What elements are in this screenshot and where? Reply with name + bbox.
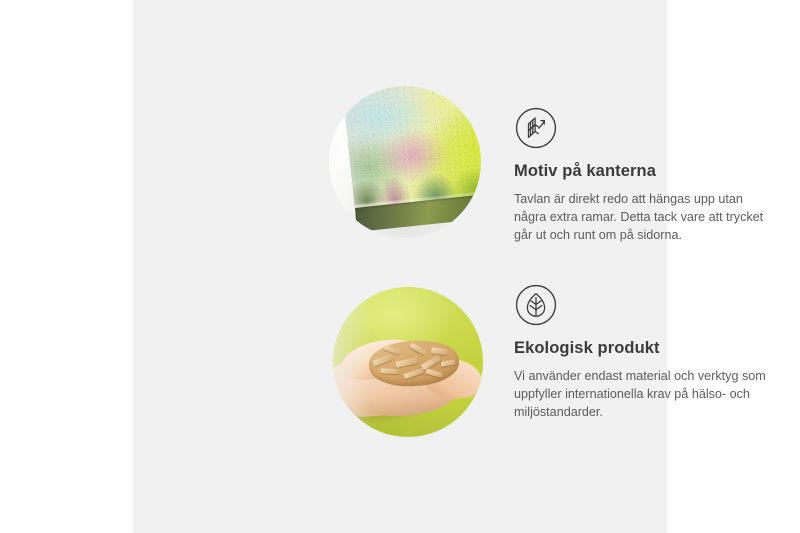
leaf-icon [514, 283, 558, 327]
feature-description: Tavlan är direkt redo att hängas upp uta… [514, 191, 766, 245]
feature-text-canvas-edges: Motiv på kanterna Tavlan är direkt redo … [514, 106, 786, 244]
wood-chips-in-hands-photo [333, 287, 483, 437]
canvas-print-corner-photo [329, 86, 481, 238]
feature-title: Motiv på kanterna [514, 162, 786, 182]
photo-left-fade [333, 287, 372, 437]
canvas-wrapped-edge-icon [514, 106, 558, 150]
canvas-object [342, 86, 481, 238]
feature-title: Ekologisk produkt [514, 339, 794, 359]
product-feature-infographic: Motiv på kanterna Tavlan är direkt redo … [0, 0, 800, 533]
feature-description: Vi använder endast material och verktyg … [514, 368, 786, 422]
feature-text-eco-product: Ekologisk produkt Vi använder endast mat… [514, 283, 794, 421]
content-panel: Motiv på kanterna Tavlan är direkt redo … [133, 0, 667, 533]
